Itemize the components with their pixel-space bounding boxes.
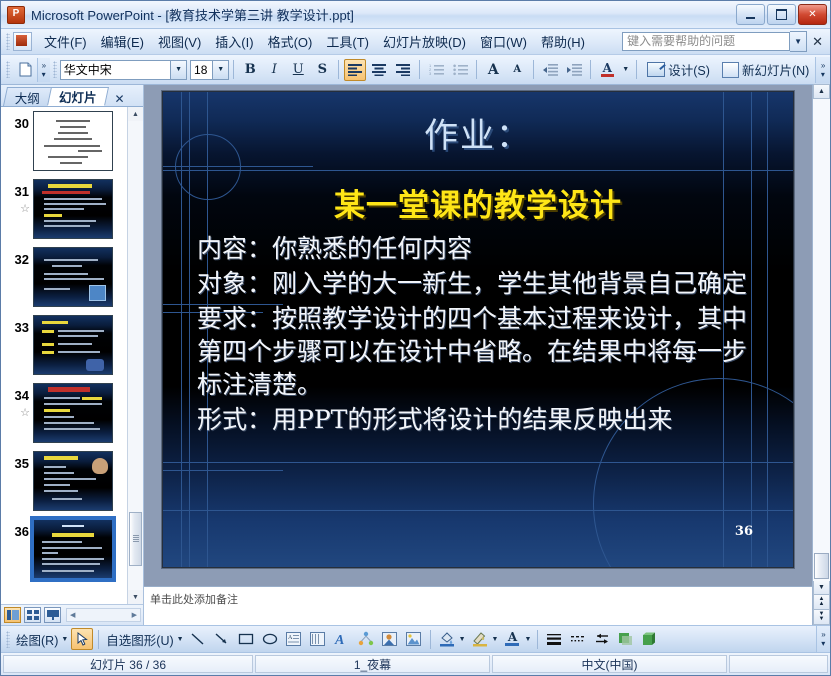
font-color-button[interactable]: A: [596, 59, 618, 81]
thumbnail-line: [60, 162, 82, 164]
close-button[interactable]: ✕: [798, 4, 827, 25]
scroll-up-icon[interactable]: ▲: [128, 107, 143, 121]
thumbnail-highlight: [44, 214, 62, 217]
previous-slide-button[interactable]: ▲▲: [813, 594, 830, 610]
thumbnail-accent: [48, 387, 90, 392]
line-icon[interactable]: [187, 628, 209, 650]
text-box-icon[interactable]: A: [283, 628, 305, 650]
font-color-icon[interactable]: A: [501, 628, 523, 650]
slide-number-value: 34: [15, 388, 29, 403]
font-size-value: 18: [194, 63, 207, 77]
toolbar-overflow-1[interactable]: »▾: [37, 58, 50, 82]
menu-file[interactable]: 文件(F): [37, 29, 94, 54]
thumbnail-title: [48, 184, 92, 188]
help-search-input[interactable]: 键入需要帮助的问题: [622, 32, 790, 51]
slide-number: 33: [3, 315, 33, 335]
italic-button[interactable]: I: [263, 59, 285, 81]
slide-title[interactable]: 作业：: [163, 108, 793, 157]
thumbnail-line: [42, 547, 102, 549]
thumbnail-line: [44, 259, 98, 261]
thumbnail-title: [62, 525, 84, 527]
menu-edit[interactable]: 编辑(E): [94, 29, 151, 54]
thumbnail-highlight: [44, 409, 70, 412]
scroll-left-icon[interactable]: ◀: [67, 611, 78, 619]
thumbnail-title: [42, 321, 68, 324]
horizontal-scrollbar[interactable]: ◀ ▶: [66, 608, 141, 622]
list-item[interactable]: 35: [1, 451, 127, 511]
slide-thumbnail[interactable]: [33, 315, 113, 375]
formatting-toolbar: »▾ 华文中宋 ▼ 18 ▼ B I U S 123: [1, 55, 830, 85]
maximize-icon: [776, 9, 787, 20]
font-color-letter: A: [603, 63, 612, 74]
blueprint-line: [163, 470, 283, 471]
shadow-style-icon[interactable]: [615, 628, 637, 650]
font-color-swatch: [601, 74, 614, 77]
slide-number: 34 ☆: [3, 383, 33, 420]
draw-menu-button[interactable]: 绘图(R): [13, 630, 61, 649]
slide-thumbnail-selected[interactable]: [33, 519, 113, 579]
menu-window[interactable]: 窗口(W): [473, 29, 534, 54]
font-name-combo[interactable]: 华文中宋 ▼: [60, 60, 187, 80]
view-buttons-bar: ◀ ▶: [1, 604, 143, 625]
dash-style-icon[interactable]: [567, 628, 589, 650]
thumbnail-line: [44, 145, 100, 147]
menu-grip-handle[interactable]: [6, 33, 10, 50]
design-icon: [647, 62, 665, 77]
thumbnail-line: [52, 498, 82, 500]
tab-outline[interactable]: 大纲: [3, 87, 52, 106]
numbered-list-button[interactable]: 123: [425, 59, 447, 81]
separator: [590, 60, 591, 79]
thumbnail-line: [44, 422, 94, 424]
scroll-down-icon[interactable]: ▼: [128, 590, 143, 604]
window-controls: ✕: [736, 4, 827, 25]
thumbnail-line: [44, 490, 78, 492]
thumbnail-line: [44, 484, 70, 486]
thumbnail-highlight: [42, 343, 54, 346]
thumbnail-list: 30: [1, 107, 127, 604]
slide-number: 31 ☆: [3, 179, 33, 216]
thumbnail-highlight: [82, 397, 102, 400]
thumbnail-highlight: [42, 330, 54, 333]
slides-pane: 大纲 幻灯片 ✕ 30: [1, 85, 144, 625]
blueprint-line: [163, 170, 794, 171]
notes-placeholder[interactable]: 单击此处添加备注: [144, 587, 812, 625]
design-label: 设计(S): [668, 60, 710, 79]
powerpoint-icon: P: [7, 6, 25, 24]
thumbnail-line: [58, 351, 100, 353]
thumbnail-highlight: [42, 351, 54, 354]
font-color-swatch: [505, 643, 519, 646]
autoshapes-menu-button[interactable]: 自选图形(U): [103, 630, 176, 649]
chevron-down-icon[interactable]: ▼: [524, 636, 531, 643]
status-bar: 幻灯片 36 / 36 1_夜幕 中文(中国): [1, 653, 830, 675]
status-extra: [729, 655, 828, 673]
thumbnail-scroll-area: 30: [1, 107, 143, 604]
thumbnail-line: [44, 278, 104, 280]
scrollbar-thumb[interactable]: [814, 553, 829, 579]
design-button[interactable]: 设计(S): [642, 59, 715, 81]
picture-icon[interactable]: [403, 628, 425, 650]
svg-text:3: 3: [429, 71, 432, 76]
arrow-style-icon[interactable]: [591, 628, 613, 650]
slide-body-text[interactable]: 内容：你熟悉的任何内容 对象：刚入学的大一新生，学生其他背景自己确定 要求：按照…: [197, 232, 771, 438]
slide-page-number: 36: [735, 524, 753, 539]
new-slide-icon: [722, 62, 739, 78]
thumbnail-line: [44, 288, 70, 290]
thumbnail-line: [42, 558, 104, 560]
diagram-icon[interactable]: [355, 628, 377, 650]
drawing-toolbar-grip[interactable]: [6, 631, 10, 648]
thumbnail-line: [48, 156, 88, 158]
chevron-down-icon[interactable]: ▼: [212, 61, 228, 79]
slide-thumbnail[interactable]: [33, 247, 113, 307]
thumbnail-line: [44, 273, 88, 275]
toolbar-grip-handle-1[interactable]: [6, 61, 10, 78]
text-shadow-button[interactable]: S: [311, 59, 333, 81]
slide-canvas-area: 作业： 某一堂课的教学设计 内容：你熟悉的任何内容 对象：刚入学的大一新生，学生…: [144, 85, 812, 586]
title-bar: P Microsoft PowerPoint - [教育技术学第三讲 教学设计.…: [1, 1, 830, 29]
font-name-value: 华文中宋: [64, 61, 112, 78]
chevron-down-icon[interactable]: ▼: [177, 636, 184, 643]
scrollbar-track[interactable]: [813, 99, 830, 581]
status-slide-counter: 幻灯片 36 / 36: [3, 655, 253, 673]
chevron-down-icon[interactable]: ▼: [170, 61, 186, 79]
slide-thumbnail[interactable]: [33, 111, 113, 171]
scroll-right-icon[interactable]: ▶: [129, 611, 140, 619]
align-left-button[interactable]: [344, 59, 366, 81]
decrease-indent-button[interactable]: [539, 59, 561, 81]
list-item[interactable]: 30: [1, 111, 127, 171]
3d-style-icon[interactable]: [639, 628, 661, 650]
line-color-icon[interactable]: [469, 628, 491, 650]
menu-help[interactable]: 帮助(H): [534, 29, 592, 54]
body-line: 要求：按照教学设计的四个基本过程来设计，其中第四个步骤可以在设计中省略。在结果中…: [197, 302, 771, 401]
thumbnail-clipart: [89, 285, 106, 301]
close-pane-icon[interactable]: ✕: [112, 92, 128, 106]
status-design-template[interactable]: 1_夜幕: [255, 655, 490, 673]
thumbnail-line: [42, 570, 94, 572]
separator: [533, 60, 534, 79]
thumbnail-line: [60, 126, 86, 128]
chevron-down-icon[interactable]: ▼: [492, 636, 499, 643]
animation-star-icon: ☆: [3, 406, 29, 420]
thumbnail-line: [44, 428, 100, 430]
thumbnail-title: [44, 456, 78, 460]
slide-subtitle[interactable]: 某一堂课的教学设计: [163, 180, 793, 225]
menu-insert[interactable]: 插入(I): [208, 29, 260, 54]
chevron-down-icon[interactable]: ▼: [790, 31, 807, 52]
menu-view[interactable]: 视图(V): [151, 29, 208, 54]
thumbnail-line: [44, 198, 102, 200]
editing-pane: 作业： 某一堂课的教学设计 内容：你熟悉的任何内容 对象：刚入学的大一新生，学生…: [144, 85, 812, 625]
align-center-button[interactable]: [368, 59, 390, 81]
decrease-font-size-button[interactable]: A: [506, 59, 528, 81]
thumbnail-line: [42, 541, 82, 543]
thumbnail-line: [44, 466, 66, 468]
thumbnail-line: [52, 265, 82, 267]
list-item[interactable]: 33: [1, 315, 127, 375]
font-size-combo[interactable]: 18 ▼: [190, 60, 229, 80]
bold-button[interactable]: B: [239, 59, 261, 81]
menu-bar: 文件(F) 编辑(E) 视图(V) 插入(I) 格式(O) 工具(T) 幻灯片放…: [1, 29, 830, 55]
thumbnail-scrollbar[interactable]: ▲ ▼: [127, 107, 143, 604]
thumbnail-line: [44, 203, 106, 205]
slide-number: 36: [3, 519, 33, 539]
list-item[interactable]: 32: [1, 247, 127, 307]
thumbnail-line: [58, 335, 98, 337]
thumbnail-line: [44, 208, 84, 210]
minimize-button[interactable]: [736, 4, 765, 25]
close-icon[interactable]: ✕: [807, 34, 828, 50]
powerpoint-window: P Microsoft PowerPoint - [教育技术学第三讲 教学设计.…: [0, 0, 831, 676]
separator: [636, 60, 637, 79]
separator: [537, 630, 538, 649]
main-area: 大纲 幻灯片 ✕ 30: [1, 85, 830, 625]
status-language[interactable]: 中文(中国): [492, 655, 727, 673]
slide-number: 35: [3, 451, 33, 471]
new-slide-button[interactable]: 新幻灯片(N): [717, 59, 814, 81]
notes-pane[interactable]: 单击此处添加备注: [144, 586, 812, 625]
svg-text:A: A: [334, 633, 344, 647]
slide-number-value: 31: [15, 184, 29, 199]
tab-slides[interactable]: 幻灯片: [47, 87, 109, 106]
body-line: 对象：刚入学的大一新生，学生其他背景自己确定: [197, 267, 771, 300]
thumbnail-clipart: [86, 359, 104, 371]
thumbnail-subtitle: [52, 533, 94, 537]
slide-thumbnail[interactable]: [33, 383, 113, 443]
menu-slideshow[interactable]: 幻灯片放映(D): [376, 29, 473, 54]
arrow-icon[interactable]: [211, 628, 233, 650]
thumbnail-line: [44, 397, 80, 399]
separator: [430, 630, 431, 649]
vertical-text-icon[interactable]: [307, 628, 329, 650]
thumbnail-line: [56, 120, 90, 122]
increase-indent-button[interactable]: [563, 59, 585, 81]
thumbnail-line: [58, 343, 92, 345]
thumbnail-line: [44, 478, 96, 480]
help-search-box: 键入需要帮助的问题 ▼ ✕: [622, 31, 828, 52]
normal-view-button[interactable]: [4, 607, 21, 623]
thumbnail-line: [44, 225, 90, 227]
separator: [233, 60, 234, 79]
align-right-button[interactable]: [392, 59, 414, 81]
separator: [98, 630, 99, 649]
slide-number: 32: [3, 247, 33, 267]
drawing-toolbar-overflow[interactable]: »▾: [816, 626, 830, 652]
thumbnail-line: [58, 132, 88, 134]
slide-sorter-view-button[interactable]: [24, 607, 41, 623]
thumbnail-line: [44, 472, 74, 474]
bulleted-list-button[interactable]: [449, 59, 471, 81]
thumbnail-line: [78, 150, 102, 152]
pane-tabs: 大纲 幻灯片 ✕: [1, 85, 143, 107]
thumbnail-line: [54, 138, 92, 140]
line-style-icon[interactable]: [543, 628, 565, 650]
animation-star-icon: ☆: [3, 202, 29, 216]
list-item[interactable]: 36: [1, 519, 127, 579]
chevron-down-icon[interactable]: ▼: [61, 636, 68, 643]
list-item[interactable]: 34 ☆: [1, 383, 127, 443]
minimize-icon: [746, 17, 755, 19]
tab-outline-label: 大纲: [15, 88, 40, 107]
thumbnail-line: [42, 552, 58, 554]
slide-show-view-button[interactable]: [44, 607, 61, 623]
thumbnail-line: [42, 563, 100, 565]
tab-slides-label: 幻灯片: [59, 87, 97, 106]
maximize-button[interactable]: [767, 4, 796, 25]
slide-thumbnail[interactable]: [33, 179, 113, 239]
thumbnail-accent: [42, 191, 90, 194]
slide-number: 30: [3, 111, 33, 131]
window-title: Microsoft PowerPoint - [教育技术学第三讲 教学设计.pp…: [31, 5, 736, 24]
thumbnail-line: [58, 330, 104, 332]
fill-color-icon[interactable]: [436, 628, 458, 650]
separator: [419, 60, 420, 79]
body-line: 内容：你熟悉的任何内容: [197, 232, 771, 265]
thumbnail-clipart: [92, 458, 108, 474]
scrollbar-thumb[interactable]: [129, 512, 142, 566]
scroll-down-icon[interactable]: ▼: [813, 580, 830, 595]
next-slide-button[interactable]: ▼▼: [813, 609, 830, 625]
drawing-toolbar: 绘图(R) ▼ 自选图形(U) ▼ A A: [1, 625, 830, 653]
font-color-letter: A: [508, 632, 517, 643]
oval-icon[interactable]: [259, 628, 281, 650]
select-arrow-icon[interactable]: [71, 628, 93, 650]
clip-art-icon[interactable]: [379, 628, 401, 650]
thumbnail-background: [34, 384, 112, 442]
menu-tools[interactable]: 工具(T): [319, 29, 376, 54]
new-slide-label: 新幻灯片(N): [742, 60, 809, 79]
slide-canvas[interactable]: 作业： 某一堂课的教学设计 内容：你熟悉的任何内容 对象：刚入学的大一新生，学生…: [162, 91, 794, 568]
toolbar-overflow-2[interactable]: »▾: [815, 57, 830, 83]
thumbnail-line: [44, 220, 96, 222]
document-icon: [13, 32, 32, 51]
chevron-down-icon[interactable]: ▼: [459, 636, 466, 643]
slide-thumbnail[interactable]: [33, 451, 113, 511]
thumbnail-line: [44, 403, 102, 405]
thumbnail-line: [44, 416, 74, 418]
separator: [338, 60, 339, 79]
scrollbar-track[interactable]: [128, 121, 143, 590]
separator: [476, 60, 477, 79]
new-document-icon[interactable]: [14, 59, 36, 81]
scroll-up-icon[interactable]: ▲: [813, 84, 830, 99]
svg-text:A: A: [288, 635, 293, 641]
menu-format[interactable]: 格式(O): [261, 29, 320, 54]
increase-font-size-button[interactable]: A: [482, 59, 504, 81]
toolbar-grip-handle-2[interactable]: [53, 61, 57, 78]
wordart-icon[interactable]: A: [331, 628, 353, 650]
slide-scrollbar[interactable]: ▲ ▼ ▲▲ ▼▼: [812, 85, 830, 625]
body-line: 形式：用PPT的形式将设计的结果反映出来: [197, 403, 771, 436]
list-item[interactable]: 31 ☆: [1, 179, 127, 239]
chevron-down-icon[interactable]: ▼: [620, 59, 631, 81]
rectangle-icon[interactable]: [235, 628, 257, 650]
underline-button[interactable]: U: [287, 59, 309, 81]
